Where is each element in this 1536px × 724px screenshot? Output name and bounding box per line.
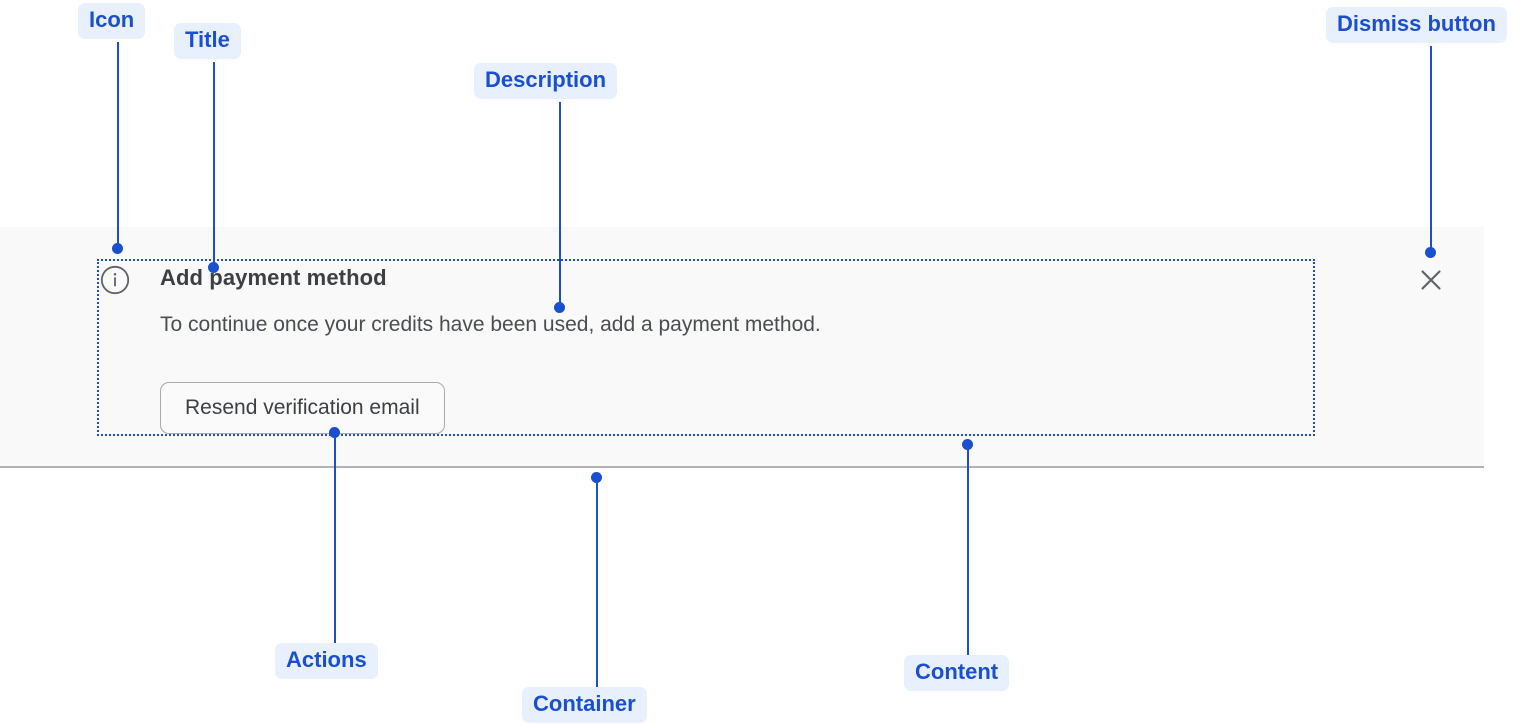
annotation-label-dismiss: Dismiss button [1326,7,1507,43]
dismiss-button[interactable] [1414,263,1448,297]
annotation-label-actions: Actions [275,643,378,679]
annotation-dot-title [208,262,219,273]
annotation-leader-content [967,444,969,655]
annotation-label-container: Container [522,687,647,723]
annotation-dot-description [554,302,565,313]
info-circle-icon [100,265,130,295]
banner-title: Add payment method [160,265,387,291]
annotation-dot-container [591,472,602,483]
annotation-leader-icon [117,42,119,248]
annotation-dot-icon [112,243,123,254]
banner-bottom-divider [0,466,1484,468]
annotation-label-title: Title [174,23,241,59]
annotation-dot-actions [329,427,340,438]
annotation-leader-dismiss [1430,46,1432,252]
resend-verification-email-button[interactable]: Resend verification email [160,382,445,434]
annotation-leader-container [596,477,598,687]
annotation-label-description: Description [474,63,617,99]
annotation-label-icon: Icon [78,3,145,39]
close-icon [1419,268,1443,292]
annotation-dot-content [962,439,973,450]
annotation-leader-description [559,102,561,306]
banner-description: To continue once your credits have been … [160,313,821,337]
annotation-label-content: Content [904,655,1009,691]
annotation-leader-actions [334,432,336,643]
annotation-dot-dismiss [1425,247,1436,258]
annotation-leader-title [213,62,215,267]
